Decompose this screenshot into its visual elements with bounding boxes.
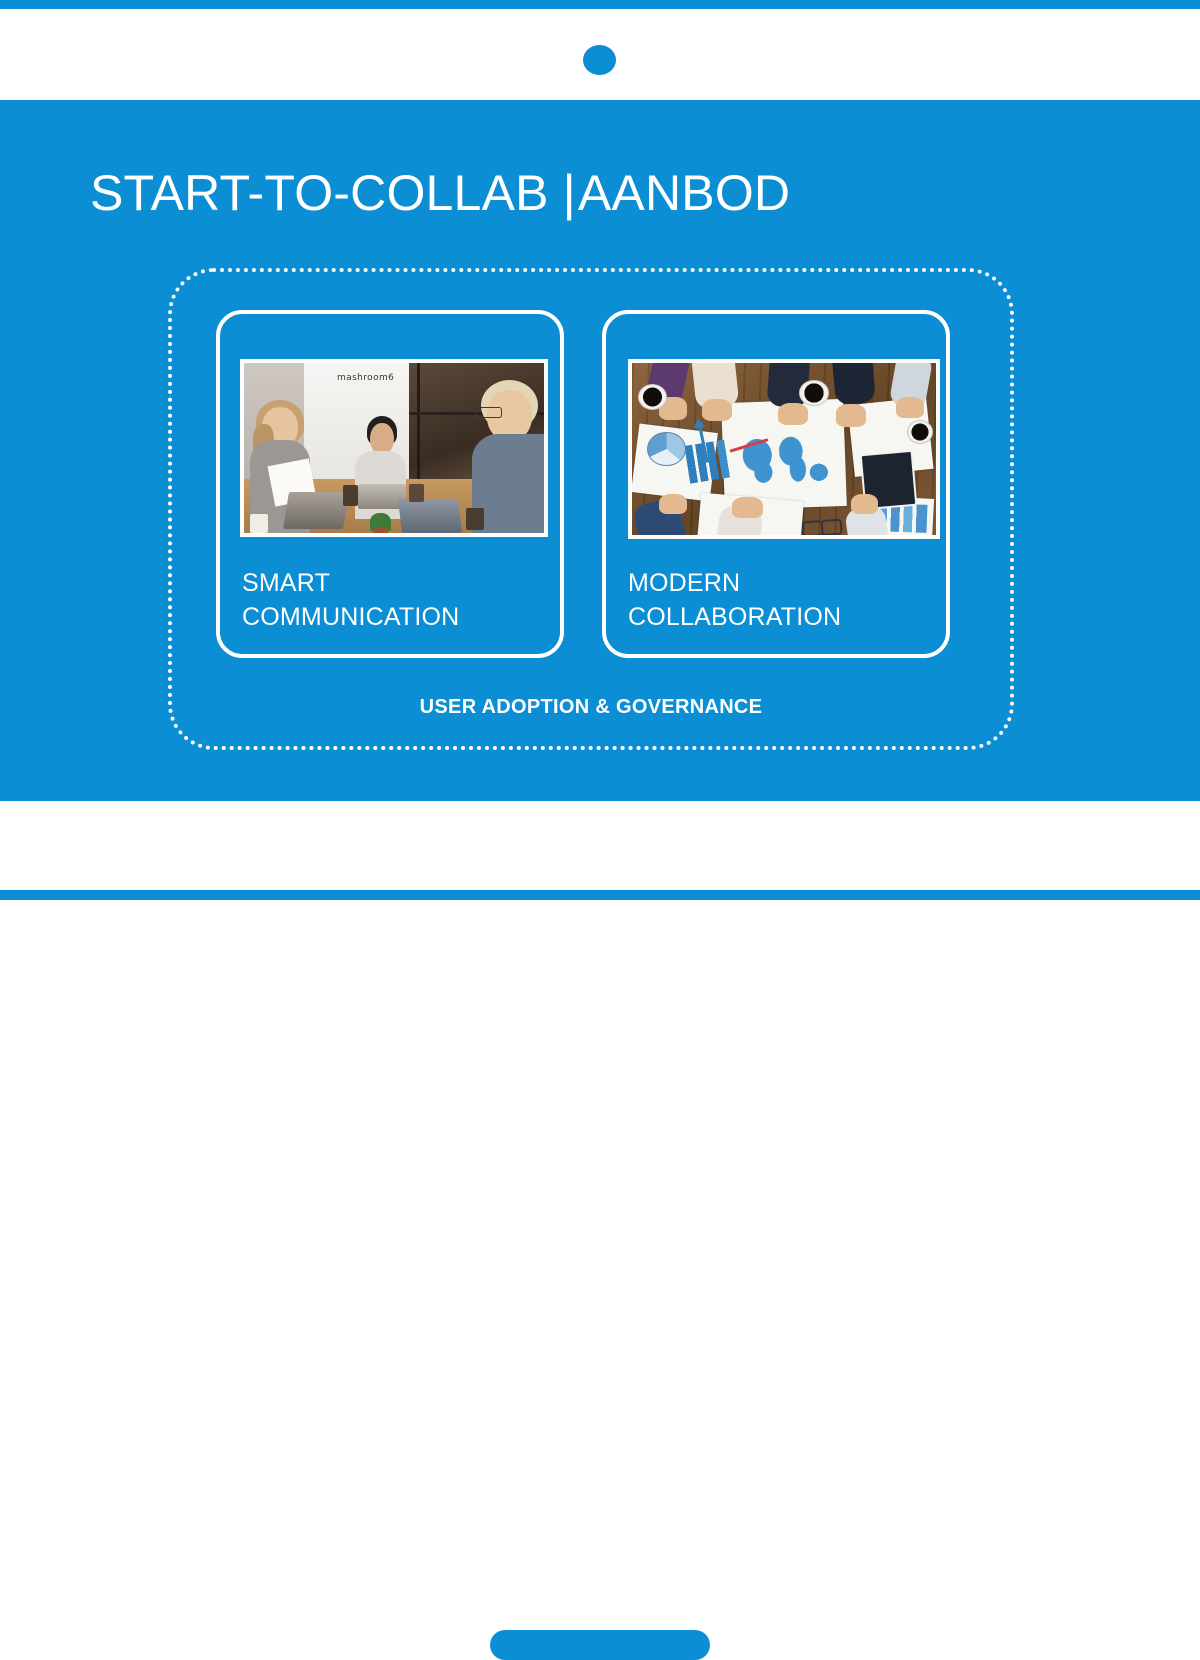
- photo-bar-chart-left: [684, 439, 738, 484]
- pillar-image-frame-smart-communication: mashroom6: [240, 359, 548, 537]
- photo-plant: [370, 513, 391, 532]
- photo-hand-8: [851, 494, 878, 515]
- page-title-suffix: AANBOD: [578, 165, 790, 221]
- page-title: START-TO-COLLAB|AANBOD: [90, 168, 790, 218]
- photo-hand-2: [702, 399, 732, 421]
- pillar-card-smart-communication[interactable]: mashroom6: [216, 310, 564, 658]
- pillar-label-smart-communication: SMART COMMUNICATION: [242, 567, 552, 635]
- photo-person2-head: [370, 423, 394, 455]
- photo-coffee-mug-3: [907, 420, 933, 444]
- page-title-main: START-TO-COLLAB: [90, 165, 549, 221]
- footer-pill-marker: [490, 1630, 710, 1660]
- page-title-separator: |: [549, 168, 578, 218]
- photo-wall-sign: mashroom6: [337, 373, 394, 383]
- pillar-label-line1: MODERN: [628, 567, 938, 601]
- header-band: [0, 9, 1200, 100]
- photo-coffee-mug-2: [799, 380, 828, 406]
- pillar-label-modern-collaboration: MODERN COLLABORATION: [628, 567, 938, 635]
- bottom-accent-strip: [0, 890, 1200, 900]
- meeting-photo: mashroom6: [244, 363, 544, 533]
- photo-eyeglasses: [802, 518, 842, 533]
- photo-hand-3: [778, 403, 808, 425]
- collaboration-photo: [632, 363, 936, 535]
- pillar-label-line2: COLLABORATION: [628, 601, 938, 635]
- photo-cup-a: [343, 485, 358, 505]
- slide: START-TO-COLLAB|AANBOD mashroom6: [0, 0, 1200, 900]
- pillar-card-modern-collaboration[interactable]: MODERN COLLABORATION: [602, 310, 950, 658]
- photo-cup-d: [250, 514, 268, 533]
- photo-hand-4: [836, 404, 866, 426]
- photo-laptop-left: [283, 492, 349, 529]
- photo-cup-c: [466, 508, 484, 530]
- photo-hand-6: [659, 494, 686, 515]
- footer-band: [0, 801, 1200, 890]
- photo-hand-5: [896, 397, 923, 418]
- top-accent-strip: [0, 0, 1200, 9]
- photo-person3-glasses: [476, 407, 502, 418]
- pillar-label-line1: SMART: [242, 567, 552, 601]
- pillar-image-frame-modern-collaboration: [628, 359, 940, 539]
- photo-coffee-mug-1: [638, 384, 667, 410]
- photo-hand-7: [732, 497, 762, 518]
- header-dot-icon: [583, 45, 616, 75]
- pillar-label-line2: COMMUNICATION: [242, 601, 552, 635]
- photo-cup-b: [409, 484, 424, 503]
- photo-pie-chart: [647, 432, 685, 467]
- governance-caption: USER ADOPTION & GOVERNANCE: [168, 696, 1014, 719]
- photo-laptop-right: [398, 499, 462, 533]
